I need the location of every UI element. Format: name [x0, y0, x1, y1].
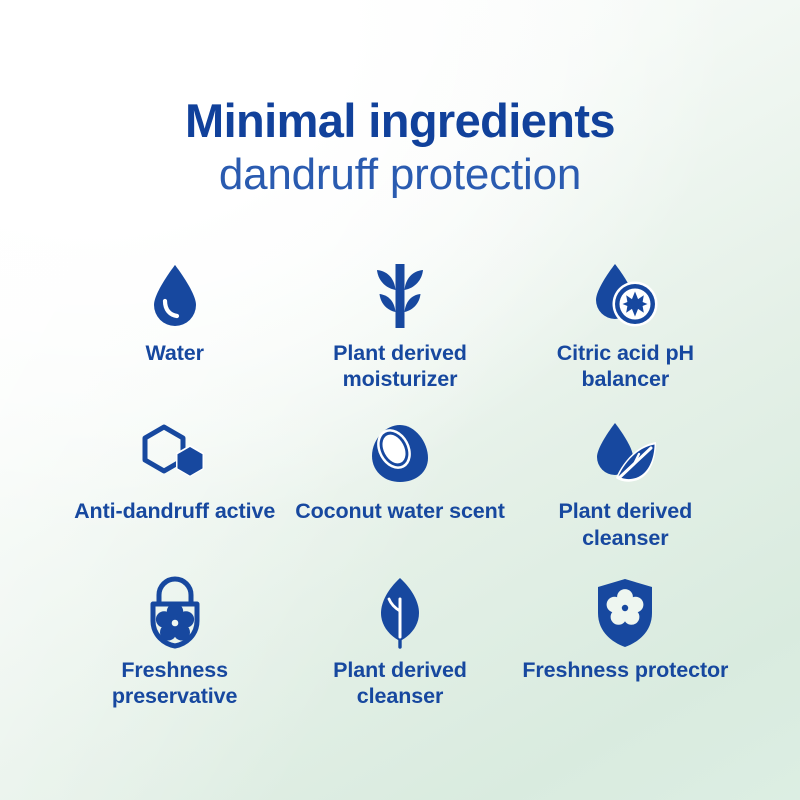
shield-flower-icon	[593, 575, 657, 651]
page-subtitle: dandruff protection	[0, 151, 800, 199]
drop-citrus-slice-icon	[587, 258, 663, 334]
leaf-icon	[374, 575, 426, 651]
sprout-icon	[367, 258, 433, 334]
ingredient-item-freshness-protector: Freshness protector	[513, 575, 738, 709]
ingredient-item-anti-dandruff: Anti-dandruff active	[62, 416, 287, 550]
ingredient-label: Coconut water scent	[295, 498, 505, 524]
ingredient-label: Plant derived moisturizer	[295, 340, 505, 392]
poster-header: Minimal ingredients dandruff protection	[0, 96, 800, 199]
ingredient-label: Anti-dandruff active	[74, 498, 275, 524]
hexagon-molecule-icon	[138, 416, 212, 492]
ingredients-grid: Water Plant derived moisturizer	[62, 258, 738, 709]
ingredient-label: Water	[145, 340, 203, 366]
water-drop-icon	[146, 258, 204, 334]
ingredient-label: Plant derived cleanser	[520, 498, 730, 550]
padlock-flower-icon	[142, 575, 208, 651]
coconut-half-icon	[366, 416, 434, 492]
drop-leaf-icon	[587, 416, 663, 492]
ingredient-label: Citric acid pH balancer	[520, 340, 730, 392]
ingredient-item-plant-cleanser-bottom: Plant derived cleanser	[287, 575, 512, 709]
ingredient-item-plant-cleanser-top: Plant derived cleanser	[513, 416, 738, 550]
ingredient-item-plant-moisturizer: Plant derived moisturizer	[287, 258, 512, 392]
ingredient-item-coconut: Coconut water scent	[287, 416, 512, 550]
ingredient-label: Freshness protector	[522, 657, 728, 683]
ingredient-label: Plant derived cleanser	[295, 657, 505, 709]
ingredient-label: Freshness preservative	[70, 657, 280, 709]
ingredient-item-water: Water	[62, 258, 287, 392]
page-title: Minimal ingredients	[0, 96, 800, 145]
ingredient-item-citric-acid: Citric acid pH balancer	[513, 258, 738, 392]
ingredient-item-freshness-preservative: Freshness preservative	[62, 575, 287, 709]
ingredients-poster: Minimal ingredients dandruff protection …	[0, 0, 800, 800]
